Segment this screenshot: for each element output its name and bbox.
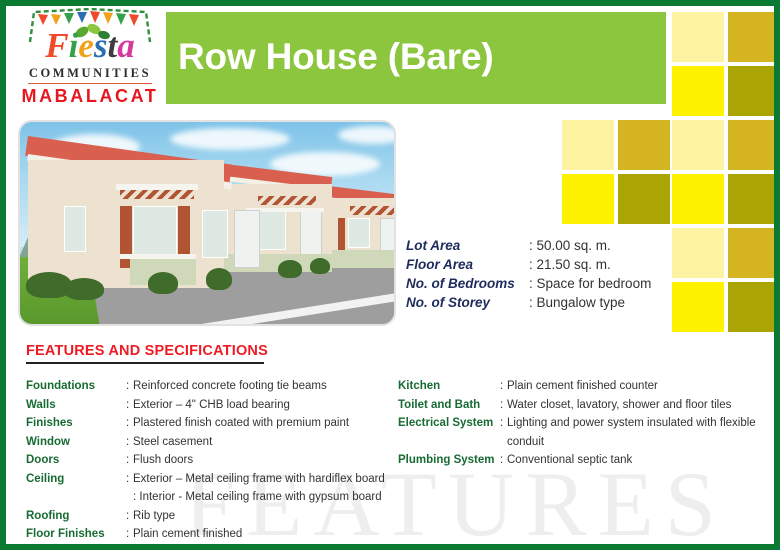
spec-row: Floor Area: 21.50 sq. m. (406, 255, 651, 274)
color-swatch (672, 174, 724, 224)
feature-colon: : (126, 433, 133, 452)
features-heading-text: FEATURES AND SPECIFICATIONS (26, 343, 268, 359)
brand-divider (28, 83, 152, 84)
spec-row: No. of Storey: Bungalow type (406, 293, 651, 312)
brand-city: MABALACAT (14, 86, 166, 107)
feature-row: Walls:Exterior – 4" CHB load bearing (26, 396, 401, 415)
color-swatch (728, 120, 780, 170)
feature-colon: : (500, 377, 507, 396)
brand-letter: a (117, 28, 135, 63)
spec-value: : 50.00 sq. m. (529, 236, 611, 255)
photo-house-trim (120, 190, 194, 199)
brand-subtitle: COMMUNITIES (14, 66, 166, 81)
feature-value: Water closet, lavatory, shower and floor… (507, 396, 731, 415)
feature-row: Foundations:Reinforced concrete footing … (26, 377, 401, 396)
feature-value: Plastered finish coated with premium pai… (133, 414, 349, 433)
photo-door (234, 210, 260, 268)
feature-row: Plumbing System:Conventional septic tank (398, 451, 776, 470)
photo-cloud (170, 128, 290, 150)
feature-colon: : (500, 396, 507, 415)
feature-row: Roofing:Rib type (26, 507, 401, 526)
spec-value: : 21.50 sq. m. (529, 255, 611, 274)
spec-label: Floor Area (406, 255, 529, 274)
photo-window (202, 210, 228, 258)
feature-label: Toilet and Bath (398, 396, 500, 415)
specification-table: Lot Area: 50.00 sq. m.Floor Area: 21.50 … (406, 236, 651, 312)
photo-window (256, 210, 286, 250)
page-header: Fiesta COMMUNITIES MABALACAT Row House (… (6, 6, 774, 110)
spec-row: Lot Area: 50.00 sq. m. (406, 236, 651, 255)
feature-value: Exterior – Metal ceiling frame with hard… (133, 470, 385, 489)
spec-label: No. of Storey (406, 293, 529, 312)
feature-row-continuation: : Interior - Metal ceiling frame with gy… (26, 488, 401, 507)
feature-value: Rib type (133, 507, 175, 526)
color-swatch (618, 174, 670, 224)
feature-label: Kitchen (398, 377, 500, 396)
feature-row: Toilet and Bath:Water closet, lavatory, … (398, 396, 776, 415)
photo-shrub (64, 278, 104, 300)
feature-colon: : (500, 451, 507, 470)
feature-label: Roofing (26, 507, 126, 526)
color-swatch (672, 66, 724, 116)
spec-label: No. of Bedrooms (406, 274, 529, 293)
brand-letter: s (94, 28, 108, 63)
color-swatch (618, 120, 670, 170)
photo-shrub (310, 258, 330, 274)
feature-row: Doors:Flush doors (26, 451, 401, 470)
feature-value: Lighting and power system insulated with… (507, 414, 756, 433)
photo-shrub (148, 272, 178, 294)
feature-value: Plain cement finished counter (507, 377, 658, 396)
feature-value: Conventional septic tank (507, 451, 632, 470)
color-swatch (672, 228, 724, 278)
feature-value-continuation: conduit (500, 433, 544, 452)
color-swatch (562, 174, 614, 224)
brand-letter: F (45, 28, 68, 63)
photo-picture-window (133, 206, 177, 258)
color-swatch (672, 282, 724, 332)
photo-house-accent (338, 218, 345, 252)
feature-value: Steel casement (133, 433, 212, 452)
feature-colon: : (126, 396, 133, 415)
brand-letter: t (108, 28, 118, 63)
feature-value: Flush doors (133, 451, 193, 470)
feature-value: Exterior – 4" CHB load bearing (133, 396, 290, 415)
house-photo (18, 120, 396, 326)
photo-shrub (206, 268, 232, 290)
color-swatch (728, 174, 780, 224)
feature-value: Plain cement finished (133, 525, 242, 544)
brand-letter: e (78, 28, 94, 63)
feature-label: Doors (26, 451, 126, 470)
spec-label: Lot Area (406, 236, 529, 255)
spec-value: : Bungalow type (529, 293, 625, 312)
photo-house-trim (258, 196, 316, 205)
feature-row-continuation: conduit (398, 433, 776, 452)
brand-letter: i (69, 28, 79, 63)
features-heading: FEATURES AND SPECIFICATIONS (26, 343, 268, 364)
spec-value: : Space for bedroom (529, 274, 651, 293)
color-swatch (728, 282, 780, 332)
feature-label-spacer (26, 488, 126, 507)
color-swatch (672, 12, 724, 62)
feature-row: Electrical System:Lighting and power sys… (398, 414, 776, 433)
feature-label: Ceiling (26, 470, 126, 489)
feature-label: Electrical System (398, 414, 500, 433)
brand-wordmark: Fiesta (14, 28, 166, 63)
page-title: Row House (Bare) (178, 36, 493, 78)
feature-row: Window:Steel casement (26, 433, 401, 452)
feature-colon: : (126, 525, 133, 544)
feature-label: Plumbing System (398, 451, 500, 470)
feature-label: Window (26, 433, 126, 452)
feature-colon: : (126, 414, 133, 433)
photo-window (64, 206, 86, 252)
feature-colon: : (126, 470, 133, 489)
color-swatch (728, 228, 780, 278)
feature-label: Finishes (26, 414, 126, 433)
photo-house-trim (350, 206, 394, 215)
photo-shrub (278, 260, 302, 278)
feature-label-spacer (398, 433, 500, 452)
feature-value: Reinforced concrete footing tie beams (133, 377, 327, 396)
title-banner: Row House (Bare) (166, 12, 666, 104)
feature-colon: : (126, 507, 133, 526)
photo-window (348, 218, 370, 248)
color-swatch (562, 120, 614, 170)
photo-door (300, 210, 322, 260)
color-swatch (672, 120, 724, 170)
features-column-right: Kitchen:Plain cement finished counterToi… (398, 377, 776, 470)
feature-row: Kitchen:Plain cement finished counter (398, 377, 776, 396)
feature-label: Foundations (26, 377, 126, 396)
feature-value-continuation: : Interior - Metal ceiling frame with gy… (126, 488, 382, 507)
brand-logo: Fiesta COMMUNITIES MABALACAT (14, 6, 166, 110)
features-column-left: Foundations:Reinforced concrete footing … (26, 377, 401, 544)
color-swatch (728, 66, 780, 116)
features-heading-underline (26, 362, 264, 364)
brochure-page: FEATURES F (0, 0, 780, 550)
feature-row: Ceiling:Exterior – Metal ceiling frame w… (26, 470, 401, 489)
feature-label: Walls (26, 396, 126, 415)
feature-colon: : (126, 451, 133, 470)
feature-colon: : (126, 377, 133, 396)
feature-row: Floor Finishes:Plain cement finished (26, 525, 401, 544)
feature-row: Finishes:Plastered finish coated with pr… (26, 414, 401, 433)
color-swatch (728, 12, 780, 62)
feature-colon: : (500, 414, 507, 433)
feature-label: Floor Finishes (26, 525, 126, 544)
spec-row: No. of Bedrooms: Space for bedroom (406, 274, 651, 293)
